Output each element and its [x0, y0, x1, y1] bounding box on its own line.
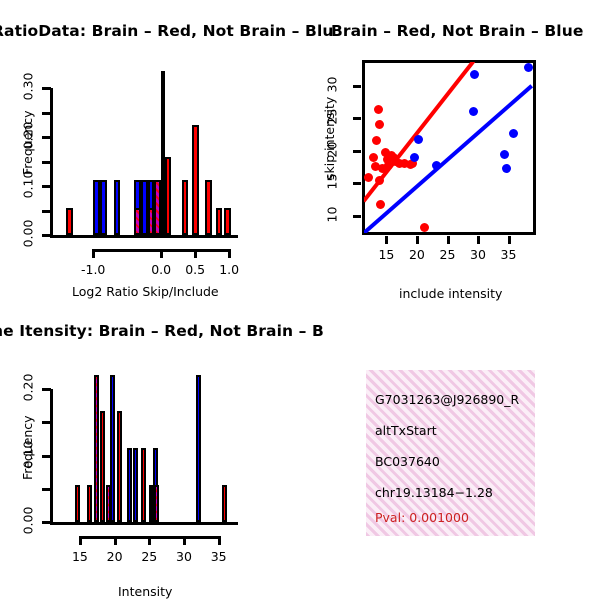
histogram-bar [134, 208, 141, 235]
y-tick-label: 20 [325, 131, 340, 167]
y-tick [42, 185, 51, 188]
y-minor-tick [42, 421, 51, 424]
y-tick-label: 15 [325, 164, 340, 200]
info-line-accession: BC037640 [375, 454, 440, 469]
panel-intensity-histogram: ne Itensity: Brain – Red, Not Brain – B … [0, 300, 300, 600]
histogram-bar [216, 208, 223, 235]
scatter-point [470, 70, 479, 79]
histogram-bar [141, 180, 148, 235]
histogram-bar [154, 180, 161, 235]
y-tick-label: 0.10 [21, 430, 36, 478]
scatter-point [502, 164, 511, 173]
y-tick [42, 455, 51, 458]
plot-area-intensity-histogram: 0.000.100.201520253035 [0, 300, 300, 600]
x-tick [218, 536, 221, 545]
scatter-point [414, 135, 423, 144]
y-tick [42, 87, 51, 90]
histogram-bar [224, 208, 231, 235]
histogram-bar [127, 448, 132, 522]
histogram-bar [148, 208, 155, 235]
scatter-point [364, 173, 373, 182]
y-tick [42, 521, 51, 524]
y-tick-label: 0.20 [21, 364, 36, 412]
y-tick [353, 85, 361, 88]
histogram-bar [93, 180, 100, 235]
histogram-bar [222, 485, 227, 522]
scatter-point [500, 150, 509, 159]
baseline [50, 522, 238, 525]
histogram-bar [106, 485, 111, 522]
scatter-point [420, 223, 429, 232]
histogram-bar [141, 448, 146, 522]
histogram-bar [94, 375, 99, 522]
scatter-point [369, 153, 378, 162]
panel-ratio-histogram: RatioData: Brain – Red, Not Brain – Blu … [0, 0, 300, 300]
plot-area-ratio-histogram: 0.000.100.200.30-1.00.00.51.0 [0, 0, 300, 300]
histogram-bar [117, 411, 122, 522]
scatter-point [372, 136, 381, 145]
histogram-bar [110, 375, 115, 522]
x-tick [416, 236, 419, 244]
histogram-bar [100, 180, 107, 235]
x-tick [194, 249, 197, 258]
y-tick [42, 388, 51, 391]
y-tick-label: 30 [325, 66, 340, 102]
histogram-bar [196, 375, 201, 522]
histogram-bar [100, 411, 105, 522]
histogram-bar [75, 485, 80, 522]
info-line-event: altTxStart [375, 423, 437, 438]
scatter-point [469, 107, 478, 116]
y-tick-label: 0.20 [21, 112, 36, 160]
panel-intensity-scatter: Brain – Red, Not Brain – Blue skip inten… [300, 0, 600, 300]
x-tick-label: 1.0 [204, 262, 254, 277]
x-tick [385, 236, 388, 244]
info-line-id: G7031263@J926890_R [375, 392, 519, 407]
y-tick [353, 117, 361, 120]
histogram-bar [66, 208, 73, 235]
scatter-point [374, 105, 383, 114]
x-tick [477, 236, 480, 244]
histogram-bar [133, 448, 138, 522]
y-tick [42, 136, 51, 139]
x-tick [79, 536, 82, 545]
y-minor-tick [42, 210, 51, 213]
y-tick-label: 25 [325, 99, 340, 135]
histogram-bar [192, 125, 199, 235]
y-tick [353, 150, 361, 153]
scatter-point [524, 63, 533, 72]
y-minor-tick [42, 488, 51, 491]
x-tick [114, 536, 117, 545]
y-tick-label: 0.30 [21, 63, 36, 111]
baseline [50, 235, 238, 238]
scatter-clip [364, 62, 534, 233]
x-tick [148, 536, 151, 545]
scatter-point [410, 153, 419, 162]
info-line-locus: chr19.13184−1.28 [375, 485, 493, 500]
x-tick [183, 536, 186, 545]
gene-info-panel: G7031263@J926890_R altTxStart BC037640 c… [366, 370, 535, 536]
x-tick [447, 236, 450, 244]
y-tick-label: 0.00 [21, 210, 36, 258]
scatter-point [375, 176, 384, 185]
histogram-bar [87, 485, 92, 522]
y-tick-label: 10 [325, 196, 340, 232]
x-tick [92, 249, 95, 258]
histogram-bar [182, 180, 189, 235]
y-tick [42, 234, 51, 237]
plot-area-intensity-scatter: 15202530351015202530 [300, 0, 600, 300]
x-tick [228, 249, 231, 258]
info-line-pval: Pval: 0.001000 [375, 510, 469, 525]
x-tick-label: -1.0 [68, 262, 118, 277]
y-minor-tick [42, 161, 51, 164]
histogram-bar [114, 180, 121, 235]
histogram-bar [154, 485, 159, 522]
scatter-point [376, 200, 385, 209]
x-tick-label: 35 [484, 247, 534, 262]
scatter-point [432, 161, 441, 170]
y-tick-label: 0.00 [21, 497, 36, 545]
x-tick [160, 249, 163, 258]
y-tick [353, 182, 361, 185]
x-tick-label: 35 [194, 549, 244, 564]
scatter-point [509, 129, 518, 138]
histogram-bar [165, 157, 172, 235]
y-tick [353, 215, 361, 218]
y-tick-label: 0.10 [21, 161, 36, 209]
x-tick [508, 236, 511, 244]
scatter-point [375, 120, 384, 129]
figure-canvas: RatioData: Brain – Red, Not Brain – Blu … [0, 0, 600, 600]
histogram-bar [205, 180, 212, 235]
y-minor-tick [42, 112, 51, 115]
